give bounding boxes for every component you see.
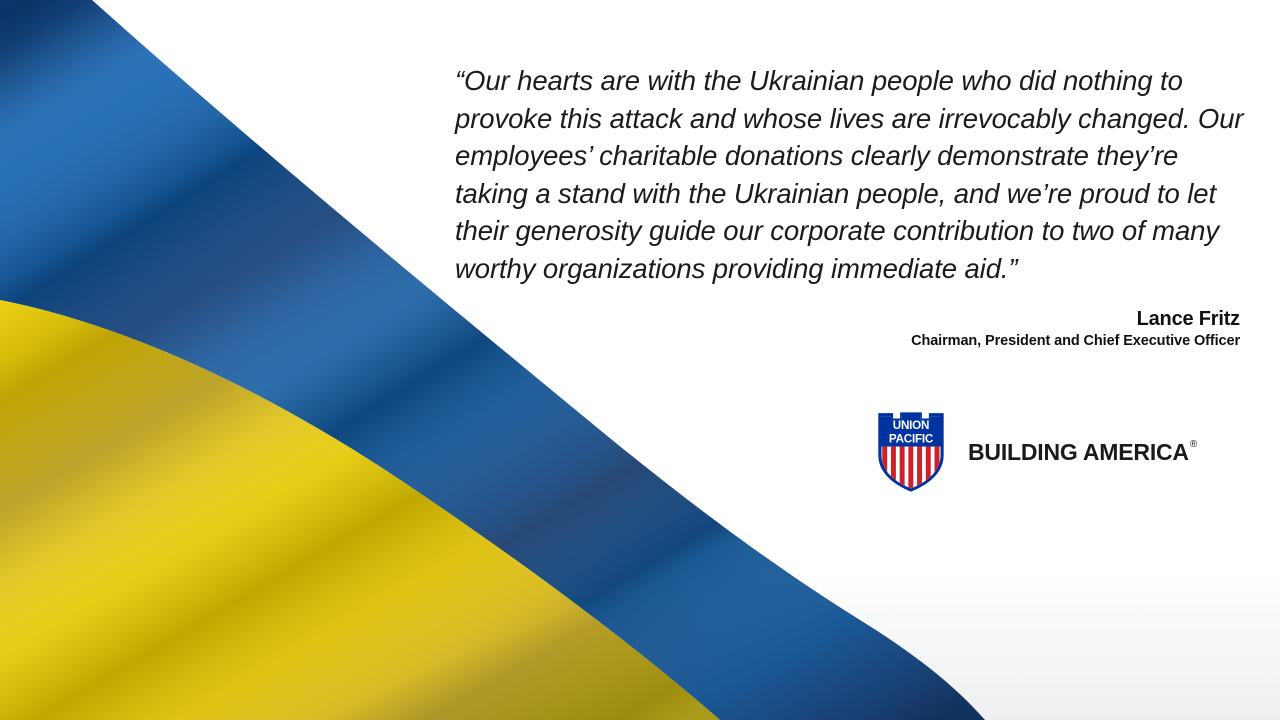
union-pacific-logo: UNION PACIFIC BUILDING AMERICA® [872, 410, 1197, 494]
shield-union-text: UNION [893, 419, 929, 432]
slide-canvas: “Our hearts are with the Ukrainian peopl… [0, 0, 1280, 720]
shield-pacific-text: PACIFIC [889, 432, 934, 445]
attribution-block: Lance Fritz Chairman, President and Chie… [540, 307, 1240, 351]
building-america-tagline: BUILDING AMERICA® [968, 439, 1197, 466]
attribution-title: Chairman, President and Chief Executive … [540, 332, 1240, 351]
attribution-name: Lance Fritz [540, 307, 1240, 331]
building-america-text: BUILDING AMERICA [968, 439, 1189, 466]
registered-trademark-icon: ® [1190, 440, 1197, 450]
union-pacific-shield-icon: UNION PACIFIC [872, 410, 950, 494]
quote-text: “Our hearts are with the Ukrainian peopl… [455, 62, 1255, 287]
